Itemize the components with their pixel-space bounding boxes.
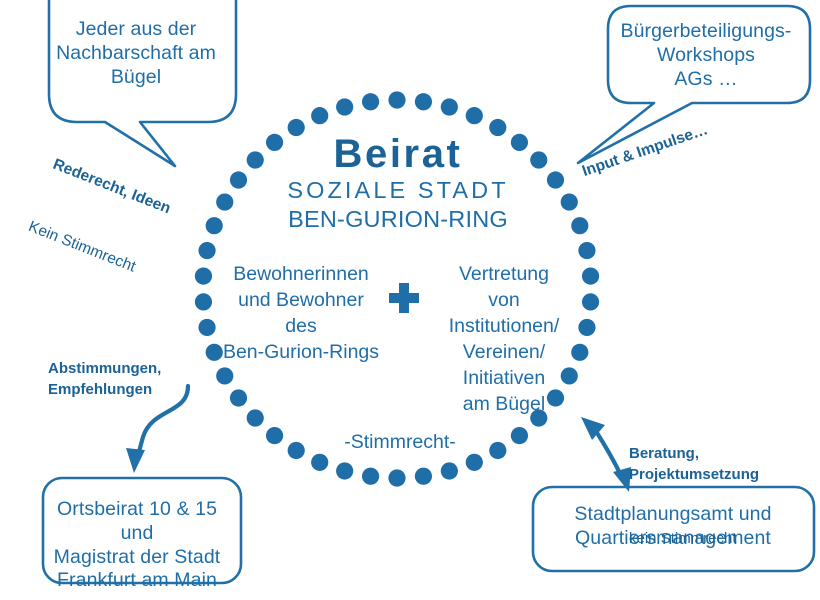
ring-dot [336, 462, 353, 479]
ring-dot [362, 468, 379, 485]
connector-label-bottom-right: Beratung, Projektumsetzung kein Stimmrec… [629, 400, 759, 592]
diagram-canvas: Jeder aus der Nachbarschaft am Bügel Bür… [0, 0, 820, 600]
bubble-top-right-text: Bürgerbeteiligungs- Workshops AGs … [600, 20, 812, 91]
bubble-bottom-left-text: Ortsbeirat 10 & 15 und Magistrat der Sta… [36, 498, 238, 593]
ring-dot [511, 427, 528, 444]
ring-dot [466, 454, 483, 471]
ring-dot [582, 293, 599, 310]
center-column-institutions: Vertretung von Institutionen/ Vereinen/ … [424, 262, 584, 418]
plus-icon [389, 283, 419, 313]
page-title: Beirat [220, 130, 576, 179]
ring-dot [266, 427, 283, 444]
ring-dot [230, 389, 247, 406]
connector-label-top-left-normal: Kein Stimmrecht [25, 217, 149, 284]
ring-dot [466, 107, 483, 124]
ring-dot [388, 91, 405, 108]
arrow-bottom-right [581, 417, 631, 492]
connector-label-bottom-right-normal: kein Stimmrecht [629, 528, 759, 549]
connector-label-bottom-right-bold: Beratung, Projektumsetzung [629, 443, 759, 486]
ring-dot [336, 98, 353, 115]
ring-dot [362, 93, 379, 110]
ring-dot [388, 469, 405, 486]
center-voting-rights-note: -Stimmrecht- [290, 431, 510, 455]
ring-dot [578, 242, 595, 259]
ring-dot [247, 409, 264, 426]
ring-dot [216, 367, 233, 384]
center-subtitle-location: BEN-GURION-RING [220, 205, 576, 234]
center-subtitle-program: SOZIALE STADT [220, 176, 576, 205]
ring-dot [311, 107, 328, 124]
bubble-top-left-text: Jeder aus der Nachbarschaft am Bügel [32, 18, 240, 89]
ring-dot [582, 268, 599, 285]
ring-dot [198, 242, 215, 259]
ring-dot [441, 462, 458, 479]
center-column-residents: Bewohnerinnen und Bewohner des Ben-Gurio… [210, 262, 392, 366]
ring-dot [441, 98, 458, 115]
connector-label-bottom-left: Abstimmungen, Empfehlungen [48, 358, 161, 401]
ring-dot [415, 93, 432, 110]
connector-label-top-left-bold: Rederecht, Ideen [49, 154, 173, 221]
ring-dot [311, 454, 328, 471]
ring-dot [415, 468, 432, 485]
